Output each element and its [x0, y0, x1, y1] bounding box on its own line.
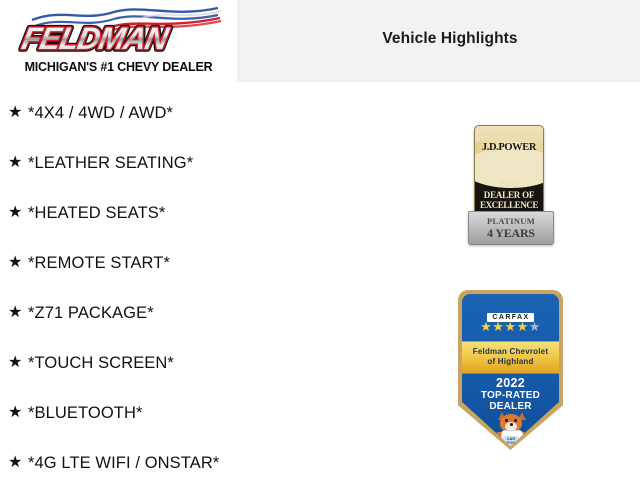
dealer-logo[interactable]: FELDMAN FELDMAN FELDMAN MICHIGAN'S #1 CH… — [0, 0, 237, 82]
list-item-label: *TOUCH SCREEN* — [28, 354, 174, 373]
list-item-label: *4X4 / 4WD / AWD* — [28, 104, 173, 123]
list-item: ★ *4G LTE WIFI / ONSTAR* — [0, 438, 420, 488]
awards-column: J.D.POWER 2023 DEALER OF EXCELLENCE PLAT… — [440, 0, 640, 480]
jd-power-duration: 4 YEARS — [469, 226, 553, 241]
carfax-top-rated-dealer-badge: CARFAX ★★★★★ Feldman Chevrolet of Highla… — [458, 290, 563, 450]
carfax-award-year: 2022 — [462, 376, 559, 390]
list-item: ★ *TOUCH SCREEN* — [0, 338, 420, 388]
carfax-dealer-name-line-1: Feldman Chevrolet — [462, 347, 559, 356]
star-bullet-icon: ★ — [8, 305, 28, 321]
carfax-shield-body: CARFAX ★★★★★ Feldman Chevrolet of Highla… — [462, 294, 559, 446]
star-bullet-icon: ★ — [8, 255, 28, 271]
list-item: ★ *BLUETOOTH* — [0, 388, 420, 438]
list-item: ★ *Z71 PACKAGE* — [0, 288, 420, 338]
jd-power-award-badge: J.D.POWER 2023 DEALER OF EXCELLENCE PLAT… — [468, 125, 552, 243]
carfax-award-line-1: TOP-RATED — [462, 390, 559, 401]
star-bullet-icon: ★ — [8, 405, 28, 421]
carfax-award-line-2: DEALER — [462, 401, 559, 412]
list-item: ★ *REMOTE START* — [0, 238, 420, 288]
vehicle-highlights-list: ★ *4X4 / 4WD / AWD* ★ *LEATHER SEATING* … — [0, 88, 420, 488]
carfax-dealer-ribbon: Feldman Chevrolet of Highland — [462, 341, 559, 374]
jd-power-award-line-1: DEALER OF — [475, 190, 543, 200]
jd-power-base: PLATINUM 4 YEARS — [468, 211, 554, 245]
star-bullet-icon: ★ — [8, 455, 28, 471]
list-item-label: *BLUETOOTH* — [28, 404, 143, 423]
jd-power-plaque: J.D.POWER 2023 DEALER OF EXCELLENCE — [474, 125, 544, 222]
carfax-stars-filled: ★★★★ — [480, 319, 529, 334]
dealer-tagline: MICHIGAN'S #1 CHEVY DEALER — [0, 60, 237, 74]
list-item-label: *HEATED SEATS* — [28, 204, 165, 223]
carfax-dealer-name-line-2: of Highland — [462, 357, 559, 366]
feldman-wordmark: FELDMAN FELDMAN FELDMAN — [12, 20, 228, 56]
list-item: ★ *HEATED SEATS* — [0, 188, 420, 238]
star-bullet-icon: ★ — [8, 105, 28, 121]
list-item-label: *Z71 PACKAGE* — [28, 304, 154, 323]
star-bullet-icon: ★ — [8, 205, 28, 221]
star-bullet-icon: ★ — [8, 355, 28, 371]
star-bullet-icon: ★ — [8, 155, 28, 171]
list-item: ★ *LEATHER SEATING* — [0, 138, 420, 188]
carfax-star-last: ★ — [529, 319, 541, 334]
jd-power-award-line-2: EXCELLENCE — [475, 200, 543, 210]
jd-power-tier: PLATINUM — [469, 216, 553, 226]
list-item-label: *REMOTE START* — [28, 254, 170, 273]
list-item-label: *4G LTE WIFI / ONSTAR* — [28, 454, 219, 473]
vehicle-highlights-page: FELDMAN FELDMAN FELDMAN MICHIGAN'S #1 CH… — [0, 0, 640, 480]
jd-power-year: 2023 — [475, 179, 543, 189]
jd-power-brand: J.D.POWER — [475, 142, 543, 153]
list-item: ★ *4X4 / 4WD / AWD* — [0, 88, 420, 138]
svg-text:FELDMAN: FELDMAN — [19, 21, 173, 56]
list-item-label: *LEATHER SEATING* — [28, 154, 193, 173]
carfax-star-rating: ★★★★★ — [462, 320, 559, 333]
